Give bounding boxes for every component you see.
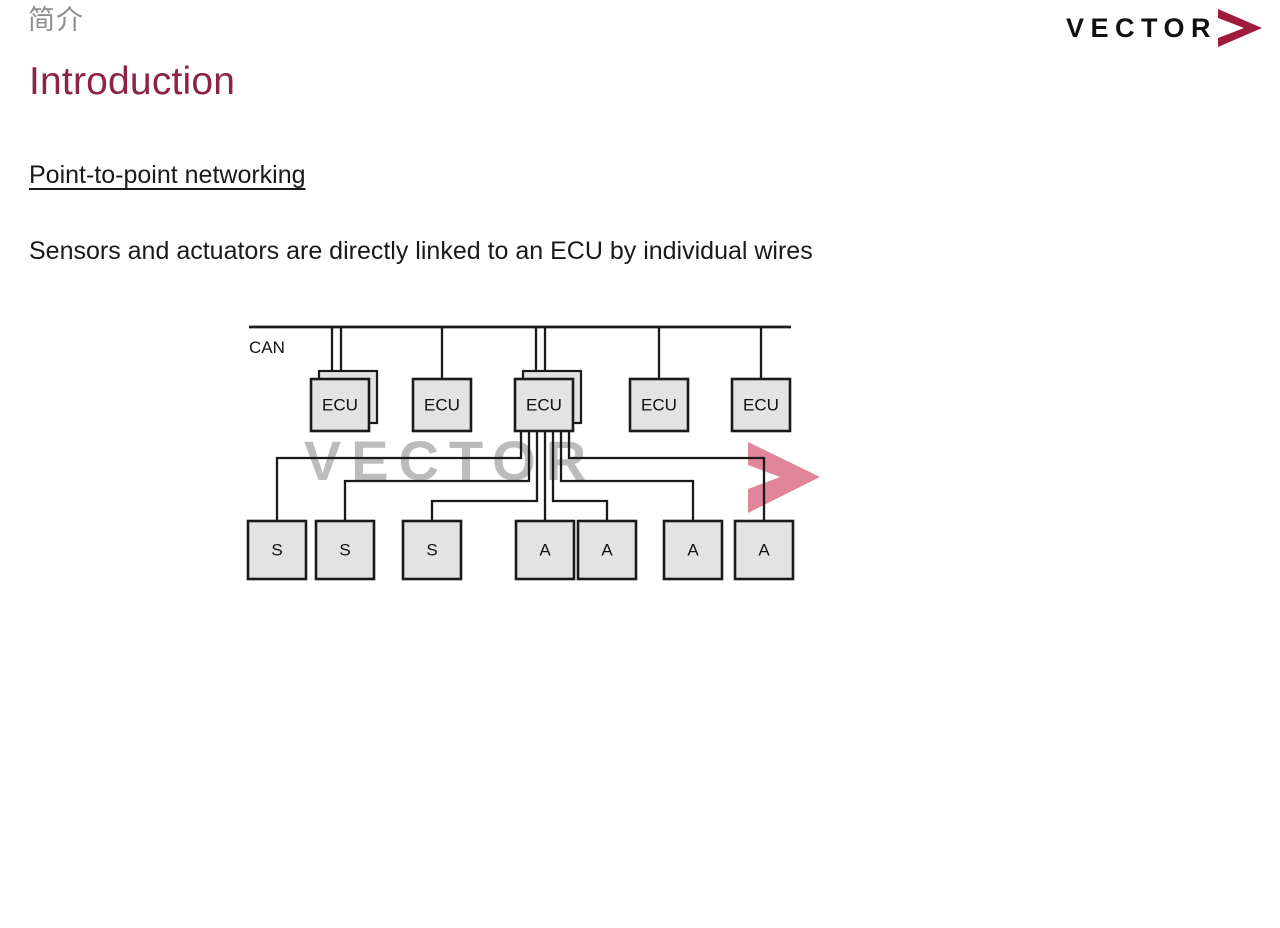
sensor-node-3: S — [403, 521, 461, 579]
sensor-node-2-label: S — [339, 540, 350, 559]
ecu-node-4: ECU — [630, 379, 688, 431]
network-diagram-svg: VECTOR CAN ECU ECU ECU ECU — [235, 305, 835, 595]
actuator-node-1-label: A — [539, 540, 551, 559]
actuator-node-2: A — [578, 521, 636, 579]
ecu-node-1: ECU — [311, 371, 377, 431]
network-diagram: VECTOR CAN ECU ECU ECU ECU — [235, 305, 835, 595]
section-heading: Point-to-point networking — [29, 158, 306, 192]
ecu-node-5-label: ECU — [743, 395, 779, 414]
sensor-node-2: S — [316, 521, 374, 579]
ecu-node-2: ECU — [413, 379, 471, 431]
sensor-node-1-label: S — [271, 540, 282, 559]
vector-watermark-arrow-icon — [748, 442, 820, 513]
vector-arrow-icon — [1214, 7, 1266, 49]
sensor-node-1: S — [248, 521, 306, 579]
vector-brand-logo: VECTOR — [1066, 5, 1266, 51]
actuator-node-4-label: A — [758, 540, 770, 559]
actuator-node-2-label: A — [601, 540, 613, 559]
ecu-node-4-label: ECU — [641, 395, 677, 414]
actuator-node-4: A — [735, 521, 793, 579]
vector-wordmark: VECTOR — [1066, 13, 1217, 44]
page-title: Introduction — [29, 58, 235, 106]
sensor-node-3-label: S — [426, 540, 437, 559]
actuator-node-3-label: A — [687, 540, 699, 559]
slide-header: 简介 Introduction VECTOR — [0, 0, 1280, 120]
actuator-node-1: A — [516, 521, 574, 579]
can-bus-label: CAN — [249, 338, 285, 357]
slide-kicker: 简介 — [28, 0, 84, 37]
ecu-node-2-label: ECU — [424, 395, 460, 414]
ecu-node-1-label: ECU — [322, 395, 358, 414]
actuator-node-3: A — [664, 521, 722, 579]
ecu-node-5: ECU — [732, 379, 790, 431]
body-text: Sensors and actuators are directly linke… — [29, 234, 813, 268]
ecu-node-3: ECU — [515, 371, 581, 431]
ecu-node-3-label: ECU — [526, 395, 562, 414]
